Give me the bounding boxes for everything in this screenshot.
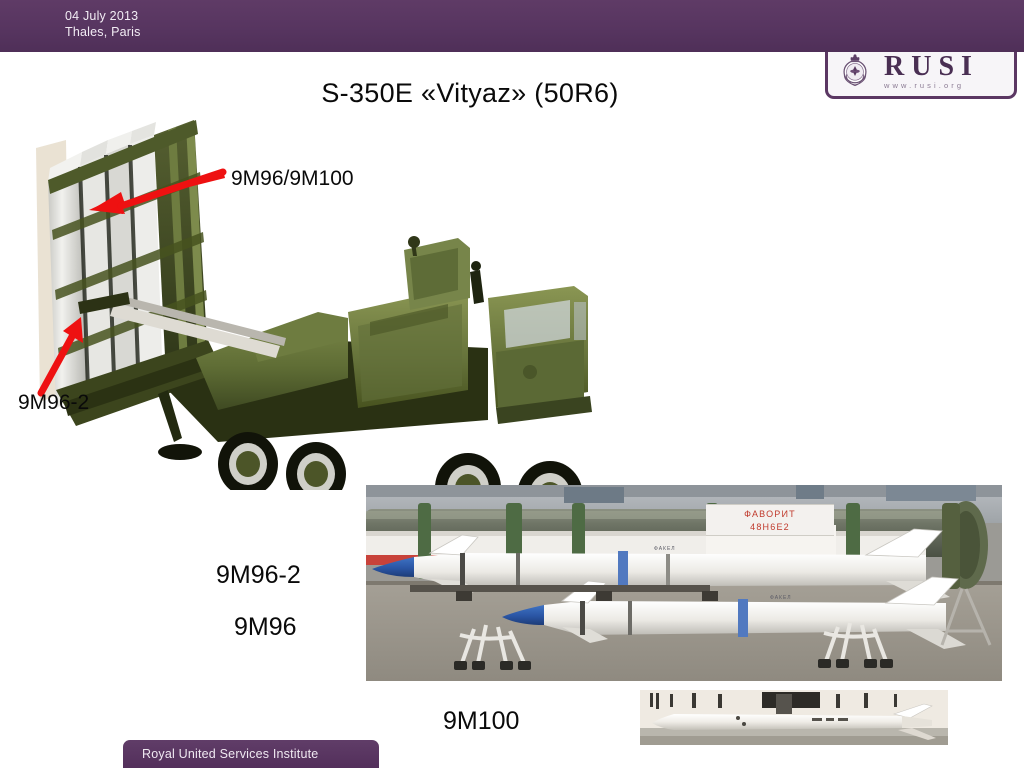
annotation-9m96-photo: 9M96 [234, 613, 297, 642]
arrow-9m96-9m100-icon [85, 168, 225, 218]
s350e-launcher-truck-photo [18, 90, 678, 490]
header-location: Thales, Paris [65, 24, 141, 40]
header-date: 04 July 2013 [65, 8, 141, 24]
header-meta: 04 July 2013 Thales, Paris [65, 8, 141, 40]
rusi-name: RUSI [884, 54, 979, 80]
container-marking-line2: 48Н6Е2 [706, 521, 834, 534]
annotation-9m96-2-launcher: 9M96-2 [18, 391, 89, 415]
container-marking-line1: ФАВОРИТ [706, 508, 834, 521]
slide-header-bar: 04 July 2013 Thales, Paris [0, 0, 1024, 52]
annotation-9m100-photo: 9M100 [443, 707, 519, 736]
footer-organisation: Royal United Services Institute [142, 747, 318, 761]
container-marking: ФАВОРИТ 48Н6Е2 [706, 504, 834, 536]
annotation-9m96-9m100: 9M96/9M100 [231, 167, 354, 191]
footer-banner: Royal United Services Institute [123, 740, 379, 768]
missile-brand-lower: ФАКЕЛ [770, 595, 792, 601]
9m100-missile-photo [640, 690, 948, 745]
arrow-9m96-2-icon [33, 313, 93, 395]
annotation-9m96-2-photo: 9M96-2 [216, 561, 301, 590]
missile-comparison-photo: ФАВОРИТ 48Н6Е2 ФАКЕЛ ФАКЕЛ [366, 485, 1002, 681]
missile-brand-upper: ФАКЕЛ [654, 546, 676, 552]
